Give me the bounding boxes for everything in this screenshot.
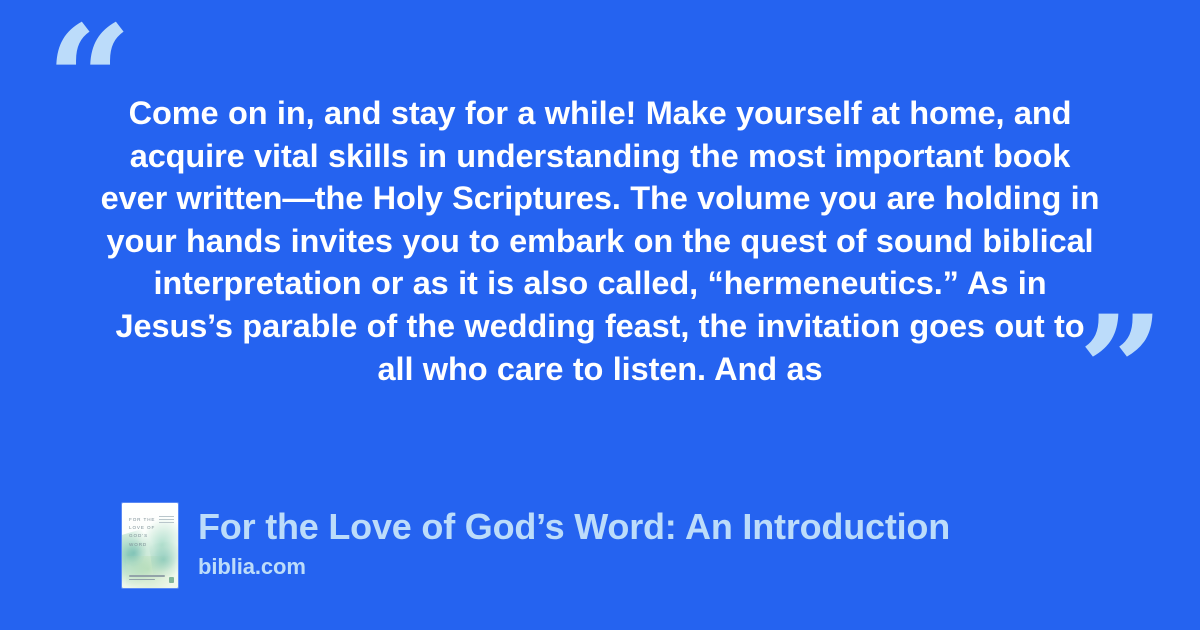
cover-author-marks bbox=[129, 575, 165, 582]
cover-title-text: FOR THE LOVE OF GOD’S WORD bbox=[129, 516, 159, 549]
quote-block: Come on in, and stay for a while! Make y… bbox=[95, 92, 1105, 390]
quote-text: Come on in, and stay for a while! Make y… bbox=[95, 92, 1105, 390]
cover-publisher-logo-icon bbox=[169, 577, 174, 583]
quote-card: “ ” Come on in, and stay for a while! Ma… bbox=[0, 0, 1200, 630]
cover-subtitle-marks bbox=[159, 516, 174, 525]
book-cover-thumbnail: FOR THE LOVE OF GOD’S WORD bbox=[122, 503, 178, 588]
footer-text: For the Love of God’s Word: An Introduct… bbox=[198, 503, 950, 580]
book-title: For the Love of God’s Word: An Introduct… bbox=[198, 505, 950, 549]
site-url: biblia.com bbox=[198, 554, 950, 580]
footer: FOR THE LOVE OF GOD’S WORD For the Love … bbox=[122, 503, 950, 588]
